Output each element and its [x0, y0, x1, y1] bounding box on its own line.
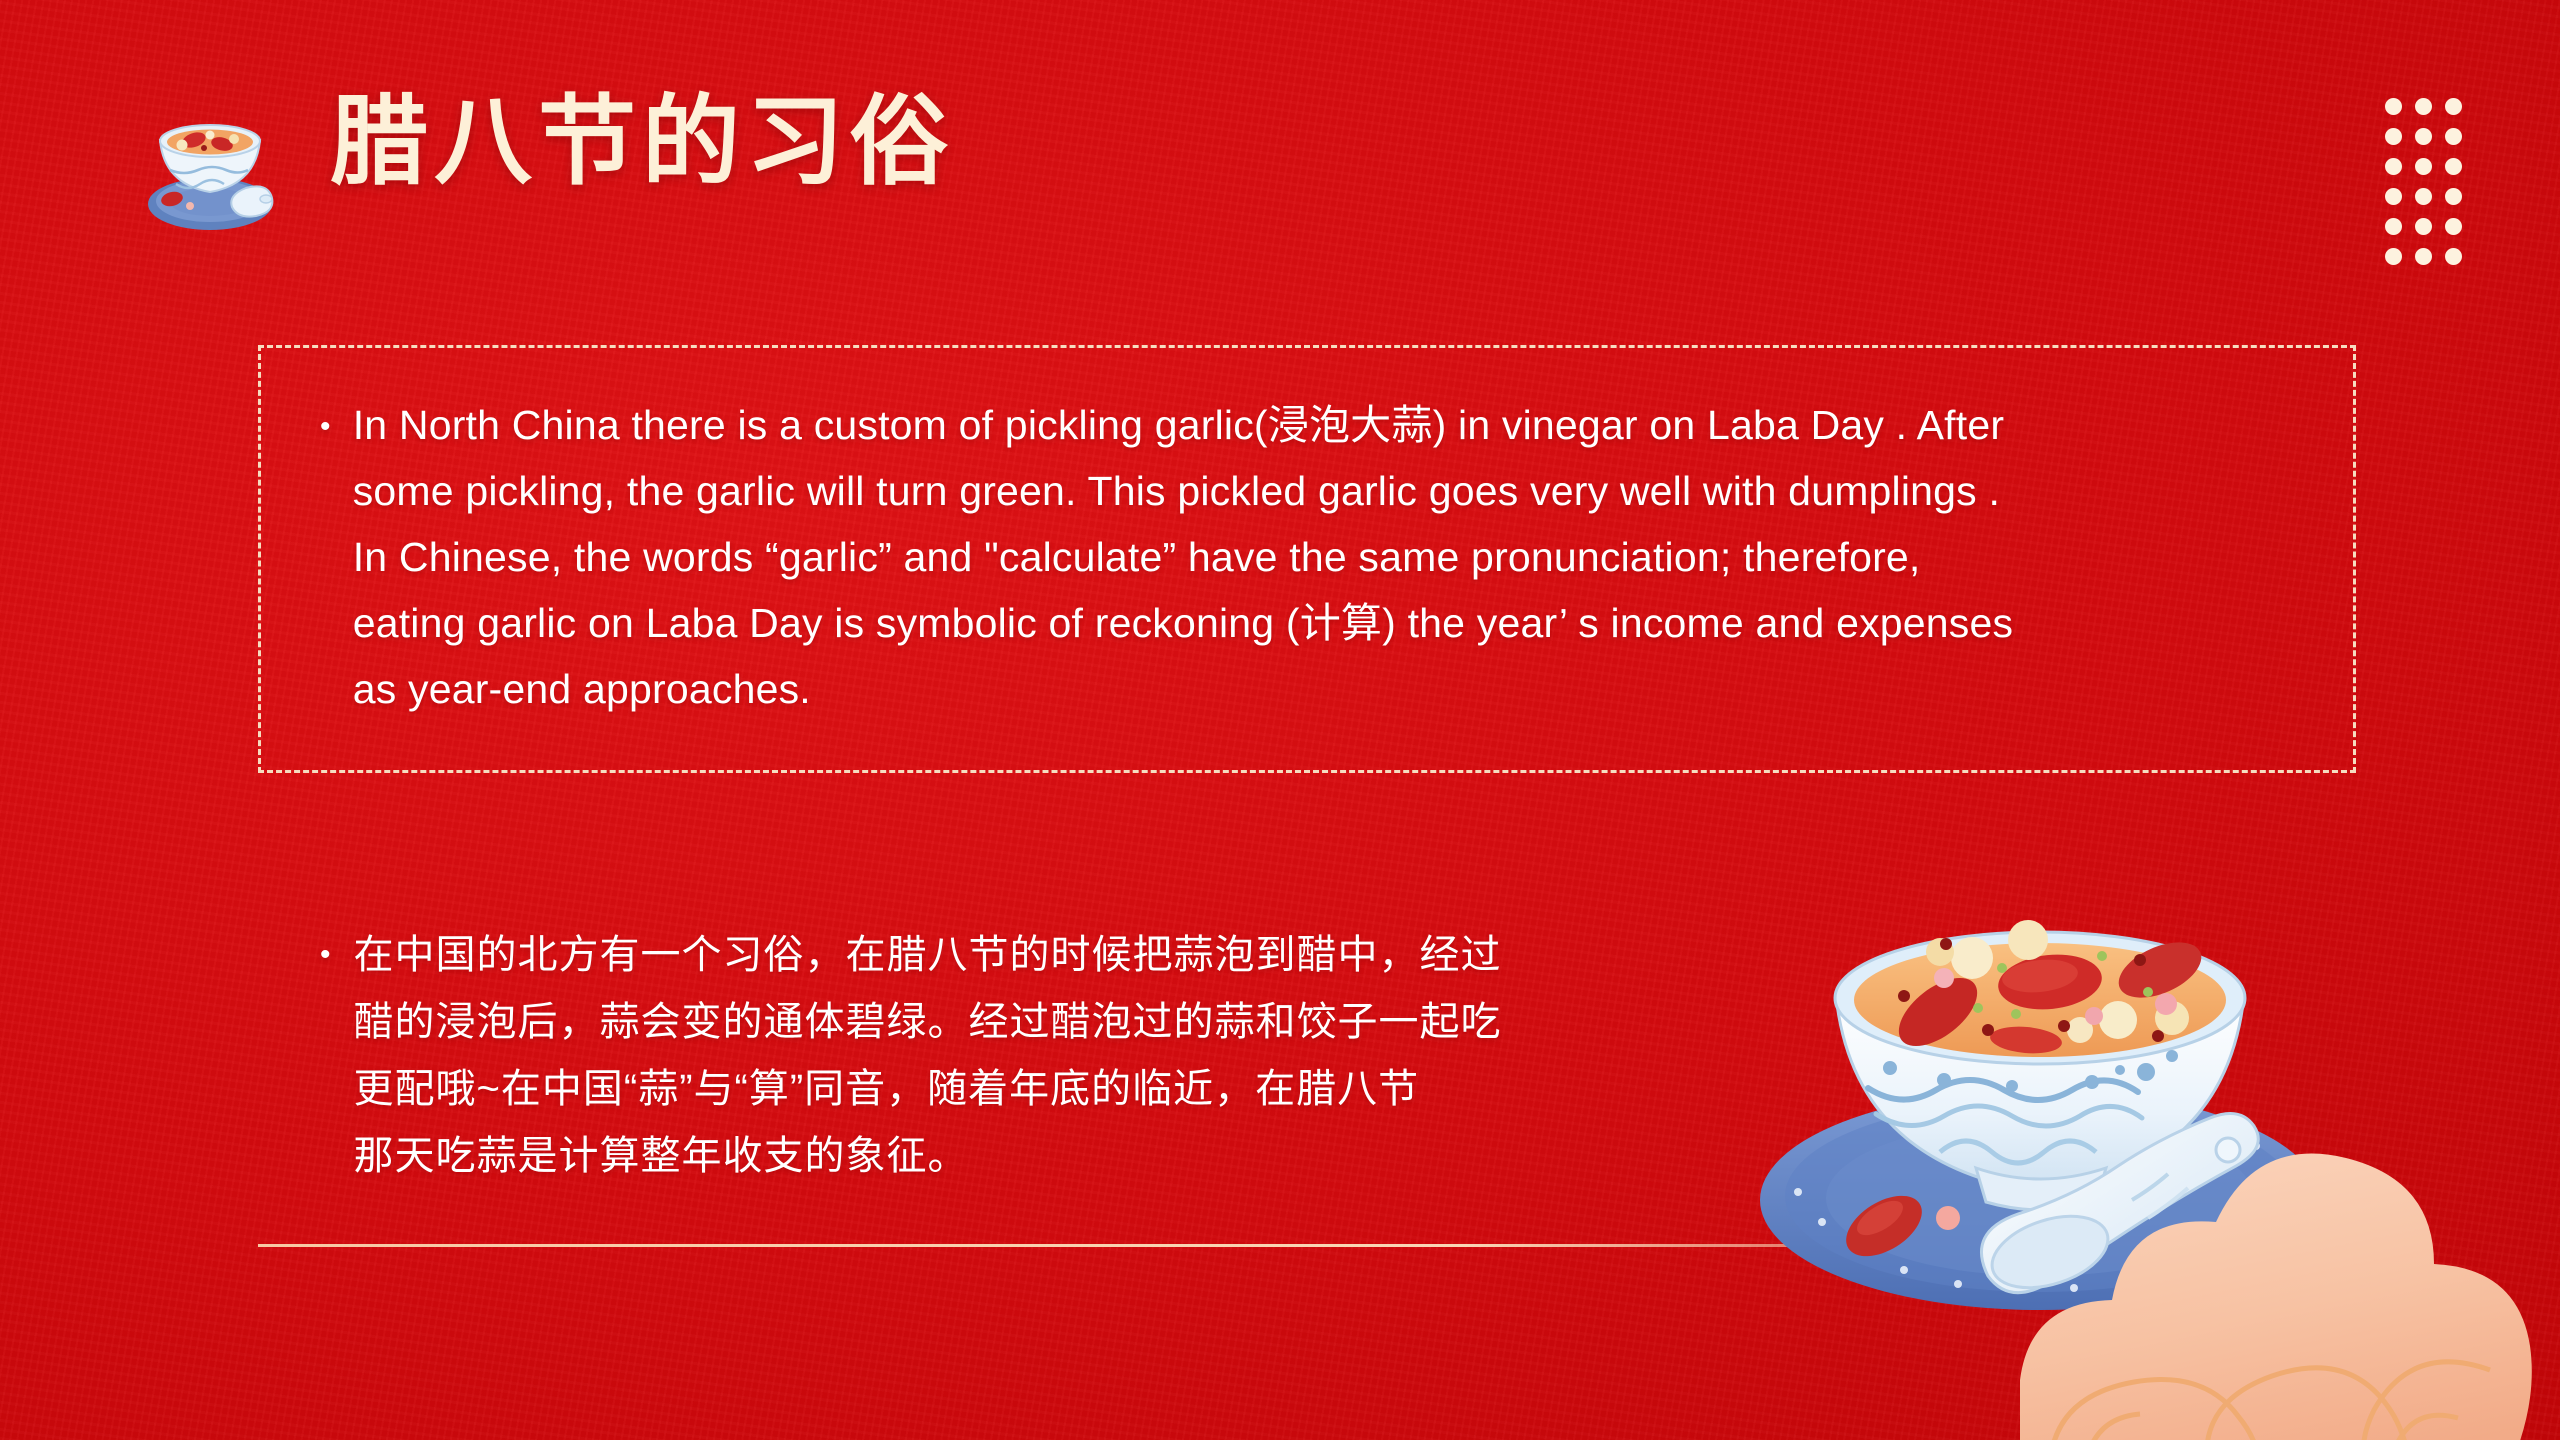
slide-root: 腊八节的习俗 • In North China there is a custo…: [0, 0, 2560, 1440]
chinese-line: 更配哦~在中国“蒜”与“算”同音，随着年底的临近，在腊八节: [354, 1056, 1720, 1123]
page-title: 腊八节的习俗: [330, 92, 954, 190]
english-bullet-item: • In North China there is a custom of pi…: [320, 392, 2320, 722]
english-line: In North China there is a custom of pick…: [353, 392, 2320, 458]
chinese-line: 醋的浸泡后，蒜会变的通体碧绿。经过醋泡过的蒜和饺子一起吃: [354, 989, 1720, 1056]
english-lines: In North China there is a custom of pick…: [353, 392, 2320, 722]
chinese-line: 那天吃蒜是计算整年收支的象征。: [354, 1123, 1720, 1190]
slide-header: 腊八节的习俗: [0, 0, 2560, 260]
bullet-icon: •: [320, 412, 331, 442]
horizontal-rule: [258, 1244, 1976, 1247]
chinese-bullet-item: • 在中国的北方有一个习俗，在腊八节的时候把蒜泡到醋中，经过 醋的浸泡后，蒜会变…: [320, 922, 1720, 1190]
english-paragraph: • In North China there is a custom of pi…: [320, 392, 2320, 722]
bullet-icon: •: [320, 940, 332, 970]
chinese-line: 在中国的北方有一个习俗，在腊八节的时候把蒜泡到醋中，经过: [354, 922, 1720, 989]
chinese-lines: 在中国的北方有一个习俗，在腊八节的时候把蒜泡到醋中，经过 醋的浸泡后，蒜会变的通…: [354, 922, 1720, 1190]
english-line: some pickling, the garlic will turn gree…: [353, 458, 2320, 524]
english-line: In Chinese, the words “garlic” and "calc…: [353, 524, 2320, 590]
english-line: as year-end approaches.: [353, 656, 2320, 722]
auspicious-cloud-icon: [2020, 1080, 2560, 1440]
english-line: eating garlic on Laba Day is symbolic of…: [353, 590, 2320, 656]
dot-grid-decoration: [2385, 98, 2475, 278]
chinese-paragraph: • 在中国的北方有一个习俗，在腊八节的时候把蒜泡到醋中，经过 醋的浸泡后，蒜会变…: [320, 922, 1720, 1190]
laba-porridge-bowl-icon: [118, 96, 298, 236]
